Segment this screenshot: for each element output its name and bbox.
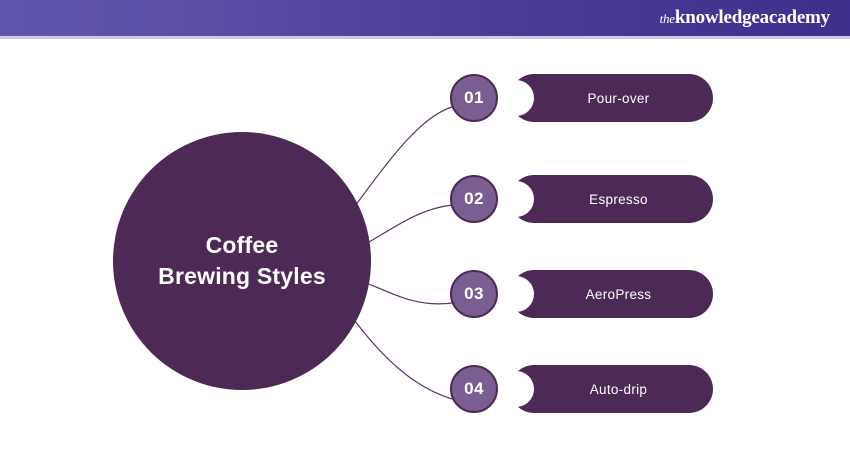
connector-line-4 [355, 321, 452, 399]
branch-pill-3[interactable]: AeroPress [510, 270, 713, 318]
brand-logo-main: knowledgeacademy [675, 7, 830, 29]
branch-notch-4 [498, 371, 534, 407]
branch-row-3[interactable]: AeroPress 03 [450, 270, 713, 318]
center-node: Coffee Brewing Styles [113, 132, 371, 390]
branch-notch-1 [498, 80, 534, 116]
branch-label-2: Espresso [575, 192, 648, 207]
branch-number-1: 01 [464, 88, 484, 108]
header-bar: theknowledgeacademy [0, 0, 850, 36]
connector-line-1 [355, 107, 452, 206]
branch-notch-2 [498, 181, 534, 217]
branch-pill-1[interactable]: Pour-over [510, 74, 713, 122]
connector-line-2 [369, 205, 452, 242]
brand-logo: theknowledgeacademy [660, 7, 830, 29]
branch-badge-3[interactable]: 03 [450, 270, 498, 318]
branch-label-4: Auto-drip [576, 382, 647, 397]
center-title-line-1: Coffee [206, 230, 279, 261]
branch-badge-1[interactable]: 01 [450, 74, 498, 122]
branch-label-1: Pour-over [574, 91, 650, 106]
branch-badge-2[interactable]: 02 [450, 175, 498, 223]
branch-number-2: 02 [464, 189, 484, 209]
branch-pill-2[interactable]: Espresso [510, 175, 713, 223]
diagram-canvas: Coffee Brewing Styles Pour-over 01 Espre… [0, 39, 850, 450]
branch-row-1[interactable]: Pour-over 01 [450, 74, 713, 122]
center-title-line-2: Brewing Styles [158, 261, 326, 292]
branch-row-4[interactable]: Auto-drip 04 [450, 365, 713, 413]
branch-notch-3 [498, 276, 534, 312]
branch-row-2[interactable]: Espresso 02 [450, 175, 713, 223]
branch-label-3: AeroPress [572, 287, 652, 302]
branch-number-4: 04 [464, 379, 484, 399]
brand-logo-the: the [660, 11, 675, 27]
branch-number-3: 03 [464, 284, 484, 304]
branch-pill-4[interactable]: Auto-drip [510, 365, 713, 413]
connector-line-3 [369, 284, 452, 304]
branch-badge-4[interactable]: 04 [450, 365, 498, 413]
